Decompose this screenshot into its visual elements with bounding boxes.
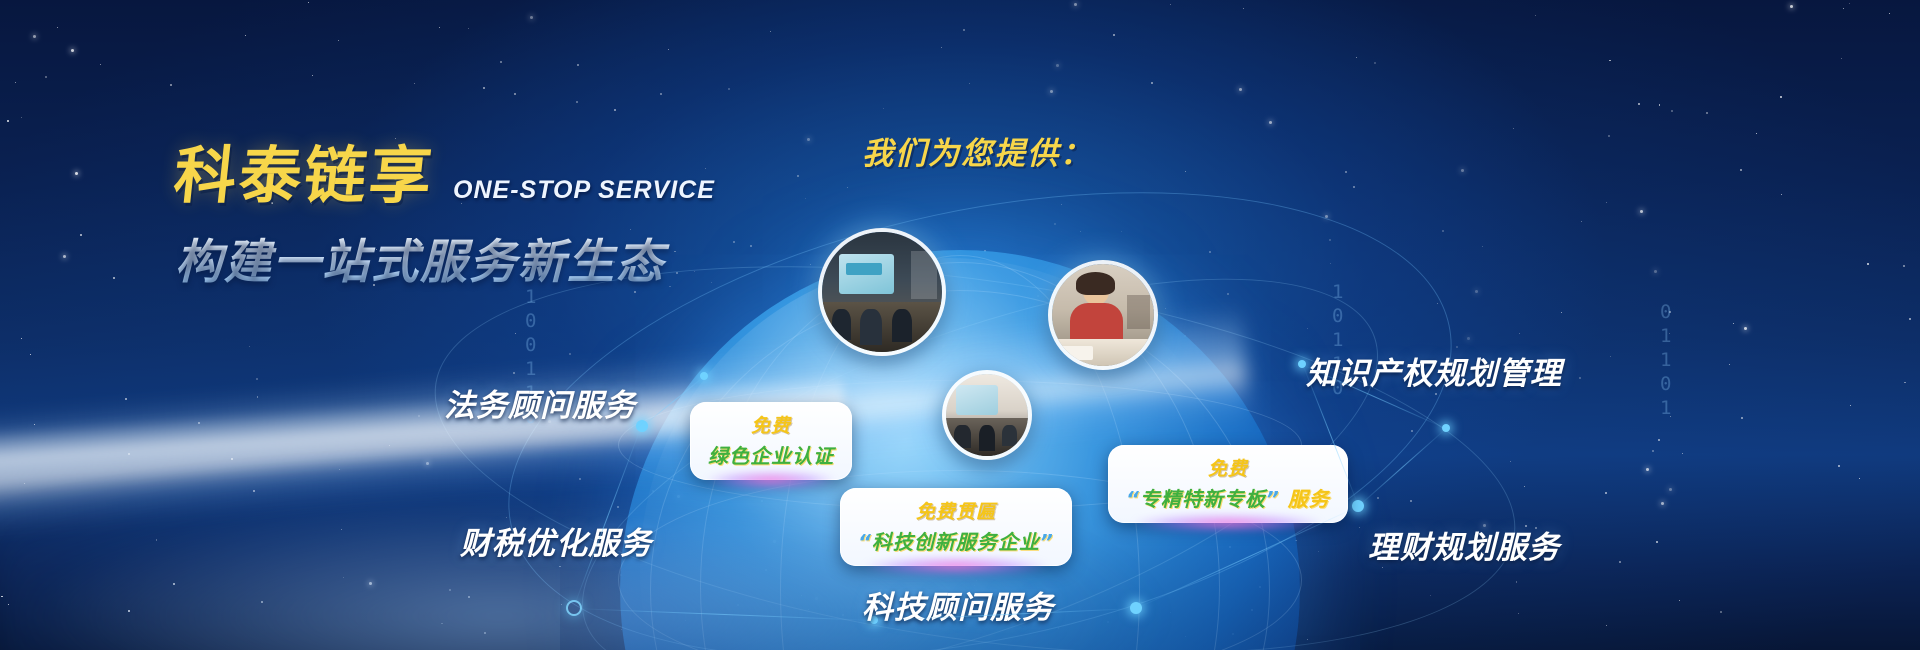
headline-block: 科泰链享 ONE-STOP SERVICE 构建一站式服务新生态 [175, 125, 715, 292]
provide-label: 我们为您提供： [862, 128, 1093, 173]
badge-line2: “专精特新专板” 服务 [1126, 483, 1330, 512]
quote-close: ” [1040, 530, 1054, 554]
office-worker-photo [1048, 260, 1158, 370]
meeting-room-photo [942, 370, 1032, 460]
binary-column: 01101 [1660, 300, 1672, 420]
brand-subtitle-en: ONE-STOP SERVICE [453, 176, 715, 205]
badge-glow [1134, 514, 1321, 532]
badge-line1: 免费 [1126, 454, 1330, 481]
badge-glow [708, 471, 834, 489]
service-label-tech-consulting: 科技顾问服务 [862, 582, 1054, 627]
brand-tagline: 构建一站式服务新生态 [175, 223, 715, 292]
badge-specialized-new-board: 免费 “专精特新专板” 服务 [1108, 445, 1348, 523]
banner-hero: 100110 10110 01101 科泰链享 ONE-STOP SERVICE… [0, 0, 1920, 650]
quote-open: “ [858, 530, 872, 554]
quote-close: ” [1266, 487, 1280, 511]
badge-glow [866, 557, 1047, 575]
badge-line2: 绿色企业认证 [708, 440, 834, 469]
badge-line2-suffix: 服务 [1280, 487, 1330, 511]
service-label-legal: 法务顾问服务 [444, 380, 636, 425]
service-label-ip-management: 知识产权规划管理 [1306, 348, 1562, 393]
badge-line2-core: 科技创新服务企业 [872, 530, 1040, 554]
service-label-finance-tax: 财税优化服务 [460, 518, 652, 563]
badge-line2-core: 专精特新专板 [1140, 487, 1266, 511]
service-label-wealth-planning: 理财规划服务 [1368, 522, 1560, 567]
badge-line1: 免费 [708, 411, 834, 438]
brand-title: 科泰链享 [170, 125, 439, 215]
badge-line1: 免费贯匾 [858, 497, 1054, 524]
seminar-room-photo [818, 228, 946, 356]
badge-green-enterprise: 免费 绿色企业认证 [690, 402, 852, 480]
quote-open: “ [1126, 487, 1140, 511]
badge-tech-innovation-enterprise: 免费贯匾 “科技创新服务企业” [840, 488, 1072, 566]
badge-line2: “科技创新服务企业” [858, 526, 1054, 555]
